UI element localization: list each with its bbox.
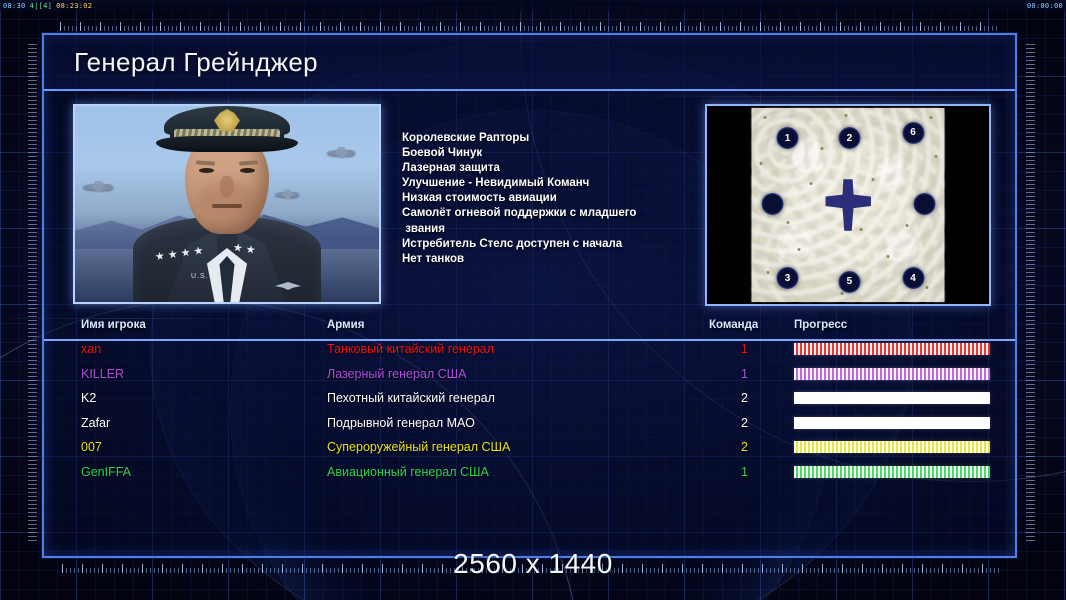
general-info-frame: Генерал Грейнджер: [42, 33, 1017, 558]
progress-bar-fill: [794, 417, 990, 429]
map-start-position: [761, 193, 783, 215]
ability-line: Лазерная защита: [402, 161, 702, 176]
map-preview-image: 126354: [752, 108, 945, 302]
ruler-strip-top: [60, 22, 1000, 31]
map-tree-marker: [786, 221, 789, 224]
officer-nose: [220, 176, 234, 198]
us-insignia: U.S.: [191, 273, 209, 280]
progress-bar-wrap: [794, 466, 990, 478]
ability-line: Боевой Чинук: [402, 146, 702, 161]
content-row: U.S.: [44, 97, 1015, 309]
player-army: Авиационный генерал США: [327, 465, 489, 479]
player-army: Танковый китайский генерал: [327, 342, 494, 356]
table-row[interactable]: GenIFFAАвиационный генерал США1: [44, 462, 1015, 487]
officer-brow-left: [196, 160, 215, 165]
map-start-position: 5: [838, 271, 860, 293]
aircraft-icon-2: [327, 150, 355, 156]
map-tree-marker: [871, 178, 874, 181]
player-name: KILLER: [81, 367, 124, 381]
general-portrait-panel: U.S.: [73, 104, 381, 304]
progress-bar-fill: [794, 466, 990, 478]
map-tree-marker: [763, 116, 766, 119]
officer-eye-left: [199, 168, 214, 173]
ruler-strip-right: [1026, 44, 1035, 542]
ability-line: звания: [402, 222, 702, 237]
player-name: Zafar: [81, 416, 110, 430]
player-team: 2: [704, 391, 748, 405]
ability-line: Улучшение - Невидимый Команч: [402, 176, 702, 191]
progress-bar: [794, 441, 990, 453]
player-army: Супероружейный генерал США: [327, 440, 510, 454]
general-portrait-image: U.S.: [75, 106, 379, 302]
map-tree-marker: [844, 114, 847, 117]
cap-brim: [156, 136, 298, 152]
map-start-position: 6: [902, 122, 924, 144]
progress-bar-wrap: [794, 343, 990, 355]
aircraft-icon-1: [83, 184, 113, 190]
map-tree-marker: [929, 116, 932, 119]
table-row[interactable]: ZafarПодрывной генерал МАО2: [44, 413, 1015, 438]
player-roster: Имя игрока Армия Команда Прогресс xanТан…: [44, 318, 1015, 558]
roster-header-row: Имя игрока Армия Команда Прогресс: [44, 318, 1015, 341]
progress-bar-fill: [794, 368, 990, 380]
progress-bar-fill: [794, 343, 990, 355]
player-army: Подрывной генерал МАО: [327, 416, 475, 430]
player-name: 007: [81, 440, 102, 454]
map-start-position: 3: [777, 267, 799, 289]
officer-mouth: [212, 204, 242, 208]
hud-segment-3: 08:23:02: [56, 2, 92, 10]
progress-bar-wrap: [794, 392, 990, 404]
player-team: 1: [704, 342, 748, 356]
ability-line: Истребитель Стелс доступен с начала: [402, 237, 702, 252]
player-army: Пехотный китайский генерал: [327, 391, 495, 405]
officer-cap: [156, 106, 298, 150]
hud-segment-2: 4|[4]: [30, 2, 53, 10]
hud-top-bar: 08:30 4|[4] 08:23:02 00:00:00: [0, 0, 1066, 11]
map-preview-panel: 126354: [705, 104, 991, 306]
progress-bar: [794, 417, 990, 429]
table-row[interactable]: K2Пехотный китайский генерал2: [44, 388, 1015, 413]
player-team: 2: [704, 416, 748, 430]
map-tree-marker: [809, 182, 812, 185]
roster-rows: xanТанковый китайский генерал1KILLERЛазе…: [44, 339, 1015, 486]
progress-bar-fill: [794, 392, 990, 404]
hud-segment-1: 08:30: [3, 2, 26, 10]
hud-match-timer: 00:00:00: [1027, 2, 1063, 10]
ability-line: Нет танков: [402, 252, 702, 267]
player-team: 1: [704, 367, 748, 381]
player-name: GenIFFA: [81, 465, 131, 479]
column-header-team: Команда: [709, 319, 758, 331]
player-team: 2: [704, 440, 748, 454]
map-start-position: 4: [902, 267, 924, 289]
progress-bar-wrap: [794, 368, 990, 380]
ability-line: Королевские Рапторы: [402, 131, 702, 146]
table-row[interactable]: xanТанковый китайский генерал1: [44, 339, 1015, 364]
player-army: Лазерный генерал США: [327, 367, 466, 381]
officer-brow-right: [239, 160, 258, 165]
column-header-player-name: Имя игрока: [81, 319, 146, 331]
officer-figure: U.S.: [129, 120, 325, 302]
column-header-army: Армия: [327, 319, 364, 331]
table-row[interactable]: KILLERЛазерный генерал США1: [44, 364, 1015, 389]
officer-eye-right: [240, 168, 255, 173]
page-title: Генерал Грейнджер: [44, 47, 318, 78]
ruler-strip-left: [28, 44, 37, 542]
progress-bar-wrap: [794, 417, 990, 429]
column-header-progress: Прогресс: [794, 319, 847, 331]
table-row[interactable]: 007Супероружейный генерал США2: [44, 437, 1015, 462]
progress-bar: [794, 343, 990, 355]
progress-bar-fill: [794, 441, 990, 453]
player-name: xan: [81, 342, 101, 356]
player-team: 1: [704, 465, 748, 479]
ability-line: Низкая стоимость авиации: [402, 191, 702, 206]
progress-bar-wrap: [794, 441, 990, 453]
progress-bar: [794, 368, 990, 380]
general-abilities-list: Королевские РапторыБоевой ЧинукЛазерная …: [402, 131, 702, 267]
ability-line: Самолёт огневой поддержки с младшего: [402, 206, 702, 221]
progress-bar: [794, 466, 990, 478]
progress-bar: [794, 392, 990, 404]
player-name: K2: [81, 391, 96, 405]
game-screen: 08:30 4|[4] 08:23:02 00:00:00 Генерал Гр…: [0, 0, 1066, 600]
frame-titlebar: Генерал Грейнджер: [44, 35, 1015, 91]
resolution-overlay: 2560 x 1440: [0, 548, 1066, 580]
